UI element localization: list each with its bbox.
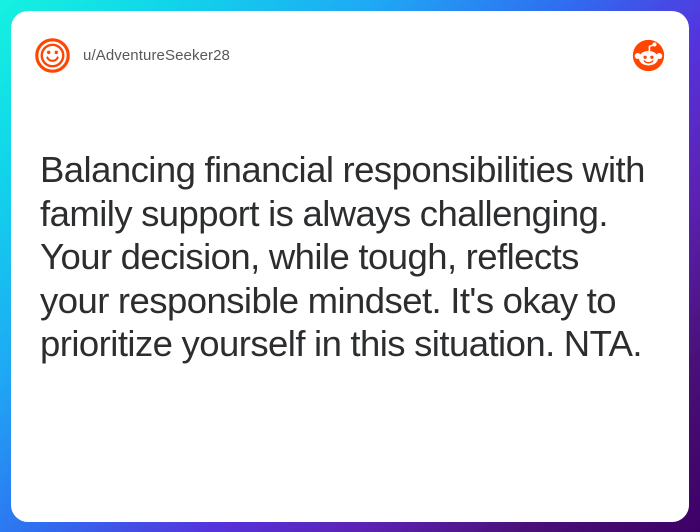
reddit-comment-card: u/AdventureSeeker28	[11, 11, 689, 522]
card-header: u/AdventureSeeker28	[11, 11, 689, 99]
screenshot-stage: u/AdventureSeeker28	[0, 0, 700, 532]
author-block[interactable]: u/AdventureSeeker28	[34, 37, 632, 74]
card-body: Balancing financial responsibilities wit…	[11, 99, 689, 522]
reddit-snoo-logo-icon[interactable]	[632, 39, 665, 72]
author-username: u/AdventureSeeker28	[83, 47, 230, 64]
comment-text: Balancing financial responsibilities wit…	[40, 148, 656, 366]
smiley-face-avatar-icon	[34, 37, 71, 74]
